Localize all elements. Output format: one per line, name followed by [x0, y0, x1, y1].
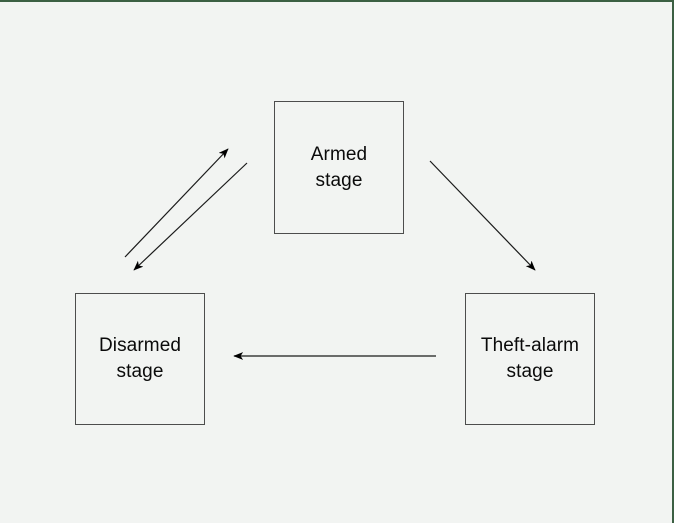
state-label-armed: Armed stage — [311, 142, 367, 194]
state-label-theft-alarm: Theft-alarm stage — [481, 333, 579, 385]
state-label-disarmed: Disarmed stage — [99, 333, 181, 385]
diagram-canvas: Armed stage Disarmed stage Theft-alarm s… — [0, 0, 674, 523]
arrow-armed-to-theft-alarm — [430, 161, 535, 270]
diagram-arrows-layer — [0, 2, 674, 523]
state-node-disarmed[interactable]: Disarmed stage — [75, 293, 205, 425]
arrow-disarmed-to-armed — [125, 149, 228, 257]
state-node-armed[interactable]: Armed stage — [274, 101, 404, 234]
state-node-theft-alarm[interactable]: Theft-alarm stage — [465, 293, 595, 425]
arrow-armed-to-disarmed — [134, 163, 247, 270]
